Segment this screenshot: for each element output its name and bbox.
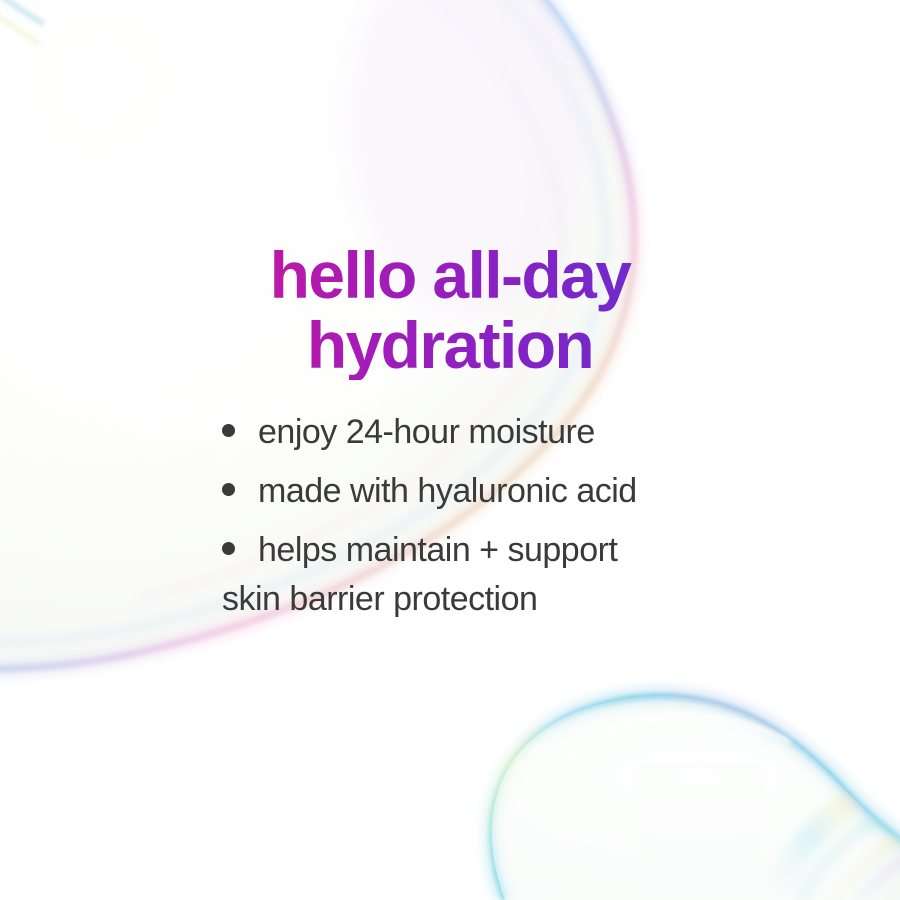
list-item: enjoy 24-hour moisture — [222, 408, 782, 457]
benefit-label: helps maintain + support — [258, 531, 617, 569]
benefit-label: made with hyaluronic acid — [258, 467, 637, 516]
list-item: made with hyaluronic acid — [222, 467, 782, 516]
content-layer: hello all-day hydration enjoy 24-hour mo… — [0, 0, 900, 900]
bullet-dot-icon — [222, 424, 235, 437]
benefit-label-group: helps maintain + support skin barrier pr… — [258, 526, 617, 624]
benefit-label: enjoy 24-hour moisture — [258, 408, 595, 457]
bullet-dot-icon — [222, 483, 235, 496]
page-title: hello all-day hydration — [0, 240, 900, 380]
list-item: helps maintain + support skin barrier pr… — [222, 526, 782, 624]
product-benefit-graphic: hello all-day hydration enjoy 24-hour mo… — [0, 0, 900, 900]
benefits-list: enjoy 24-hour moisture made with hyaluro… — [222, 408, 782, 634]
bullet-dot-icon — [222, 542, 235, 555]
benefit-label-wrap: skin barrier protection — [222, 575, 617, 624]
